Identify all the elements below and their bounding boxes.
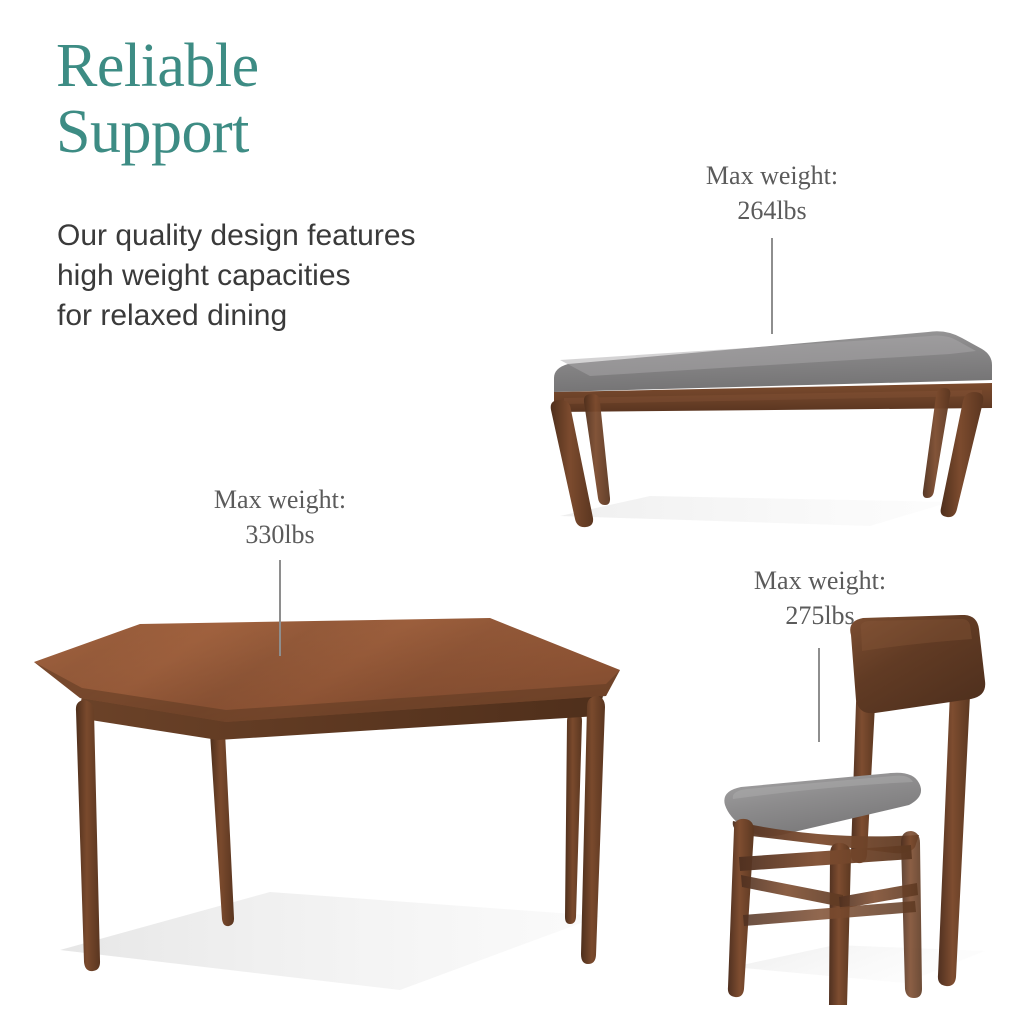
callout-table-label: Max weight: 330lbs <box>168 482 392 553</box>
table-leg-back-left <box>210 722 234 926</box>
chair-leg-front-right <box>829 843 851 1005</box>
chair-stretcher-upper <box>739 845 912 871</box>
chair-stretcher-diagonal <box>741 875 843 907</box>
table-leg-back-right <box>565 712 582 924</box>
chair-back-post-right <box>938 681 970 986</box>
dining-table-illustration <box>20 600 640 1004</box>
leader-line-table <box>279 560 281 656</box>
infographic-canvas: Reliable Support Our quality design feat… <box>0 0 1024 1024</box>
leader-line-bench <box>771 238 773 334</box>
bench-illustration <box>530 320 1010 540</box>
chair-illustration <box>715 615 1015 1005</box>
bench-floor-shadow <box>560 496 950 526</box>
table-leg-front-left <box>76 700 100 971</box>
table-leg-front-right <box>581 696 605 964</box>
chair-leg-front-left <box>728 819 754 997</box>
callout-chair-label: Max weight: 275lbs <box>708 563 932 634</box>
callout-bench-label: Max weight: 264lbs <box>664 158 880 229</box>
table-floor-shadow <box>60 892 600 990</box>
chair-stretcher-lower <box>743 901 916 926</box>
page-subtitle: Our quality design features high weight … <box>57 216 527 336</box>
leader-line-chair <box>818 648 820 742</box>
page-title: Reliable Support <box>56 34 536 165</box>
